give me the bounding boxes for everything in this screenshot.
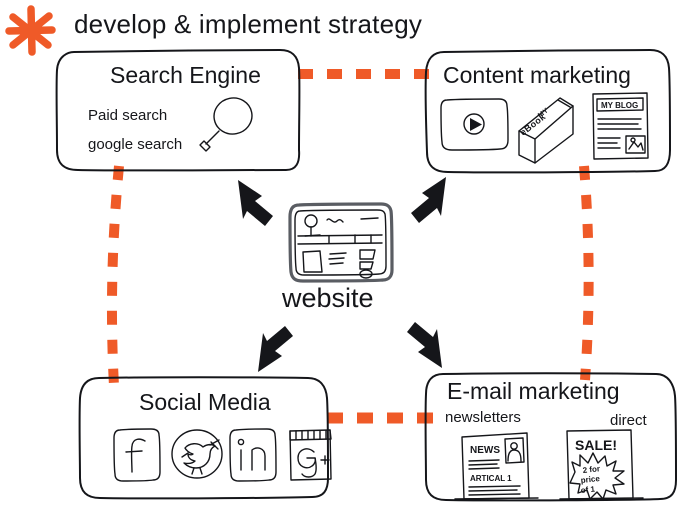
node-sublabel-paid-search: Paid search (88, 107, 167, 124)
svg-text:NEWS: NEWS (470, 445, 500, 456)
node-title-content-marketing: Content marketing (443, 62, 631, 89)
googleplus-icon (290, 430, 331, 480)
linkedin-icon (230, 429, 276, 481)
node-sublabel-newsletters: newsletters (445, 409, 521, 426)
twitter-icon (172, 430, 222, 478)
svg-text:eBook: eBook (518, 111, 548, 137)
diagram-canvas: .ink { fill:none; stroke:#15161a; stroke… (0, 0, 700, 515)
svg-text:of 1: of 1 (580, 484, 596, 494)
svg-text:price: price (580, 474, 601, 485)
node-title-search-engine: Search Engine (110, 62, 261, 89)
video-play-icon (441, 99, 508, 150)
website-browser-icon (290, 204, 392, 281)
page-title: develop & implement strategy (74, 9, 422, 40)
arrow-website-to-social (258, 326, 293, 372)
facebook-icon (114, 429, 160, 481)
arrow-website-to-content (411, 177, 446, 223)
sale-flyer-icon: SALE! 2 for price of 1 (560, 430, 643, 499)
node-title-social-media: Social Media (139, 389, 271, 416)
ebook-icon: MY eBook (518, 98, 573, 163)
magnifier-icon (200, 94, 255, 151)
node-title-email-marketing: E-mail marketing (447, 378, 620, 405)
connector-content-to-email (584, 166, 589, 380)
center-label-website: website (282, 283, 374, 314)
svg-text:SALE!: SALE! (575, 437, 617, 453)
newsletter-icon: NEWS ARTICAL 1 (455, 433, 538, 499)
node-sublabel-google-search: google search (88, 136, 182, 153)
svg-text:MY BLOG: MY BLOG (601, 101, 638, 110)
blog-page-icon: MY BLOG (593, 93, 648, 159)
connector-search-to-social (112, 166, 119, 386)
svg-text:ARTICAL 1: ARTICAL 1 (470, 474, 512, 483)
orange-asterisk-icon (9, 9, 52, 52)
arrow-website-to-email (407, 322, 442, 368)
arrow-website-to-search (238, 180, 273, 226)
node-sublabel-direct: direct (610, 412, 647, 429)
